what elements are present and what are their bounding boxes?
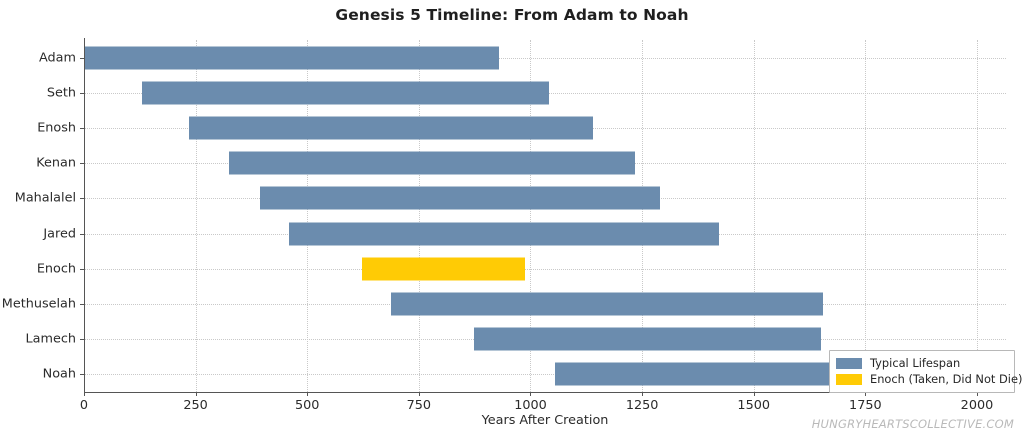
y-tick-label-methuselah: Methuselah (0, 297, 76, 312)
y-tick-label-noah: Noah (0, 367, 76, 382)
chart-title: Genesis 5 Timeline: From Adam to Noah (0, 6, 1024, 24)
x-tick-label: 1250 (626, 398, 659, 413)
x-tick-mark (530, 392, 531, 396)
y-tick-label-enosh: Enosh (0, 121, 76, 136)
bar-enoch[interactable] (362, 257, 525, 280)
legend-item: Enoch (Taken, Did Not Die) (836, 371, 1008, 387)
bar-kenan[interactable] (229, 152, 635, 175)
bar-adam[interactable] (84, 46, 499, 69)
y-tick-label-lamech: Lamech (0, 332, 76, 347)
watermark: HUNGRYHEARTSCOLLECTIVE.COM (812, 417, 1014, 431)
bar-lamech[interactable] (474, 328, 821, 351)
y-tick-label-enoch: Enoch (0, 261, 76, 276)
x-tick-label: 500 (295, 398, 319, 413)
bar-jared[interactable] (289, 222, 719, 245)
legend-label: Enoch (Taken, Did Not Die) (870, 372, 1022, 386)
x-tick-mark (754, 392, 755, 396)
x-tick-label: 250 (183, 398, 207, 413)
gridline-horizontal (84, 269, 1006, 270)
y-axis-line (84, 38, 85, 394)
chart-figure: Genesis 5 Timeline: From Adam to Noah Ad… (0, 0, 1024, 438)
x-tick-mark (307, 392, 308, 396)
legend-swatch-enoch (836, 374, 862, 385)
x-tick-label: 2000 (961, 398, 994, 413)
y-tick-label-jared: Jared (0, 226, 76, 241)
legend-label: Typical Lifespan (870, 356, 960, 370)
x-tick-label: 750 (407, 398, 431, 413)
x-tick-mark (84, 392, 85, 396)
y-tick-label-mahalalel: Mahalalel (0, 191, 76, 206)
bar-enosh[interactable] (189, 117, 593, 140)
legend-item: Typical Lifespan (836, 355, 1008, 371)
bar-mahalalel[interactable] (260, 187, 660, 210)
bar-seth[interactable] (142, 81, 549, 104)
bar-methuselah[interactable] (391, 293, 824, 316)
chart-legend[interactable]: Typical Lifespan Enoch (Taken, Did Not D… (829, 350, 1015, 393)
plot-area (84, 40, 1006, 392)
x-tick-label: 1500 (737, 398, 770, 413)
x-tick-label: 1000 (514, 398, 547, 413)
y-tick-label-seth: Seth (0, 85, 76, 100)
y-tick-label-adam: Adam (0, 50, 76, 65)
x-tick-mark (642, 392, 643, 396)
x-tick-label: 1750 (849, 398, 882, 413)
x-tick-mark (419, 392, 420, 396)
x-tick-mark (196, 392, 197, 396)
legend-swatch-typical (836, 358, 862, 369)
x-tick-label: 0 (80, 398, 88, 413)
y-tick-label-kenan: Kenan (0, 156, 76, 171)
